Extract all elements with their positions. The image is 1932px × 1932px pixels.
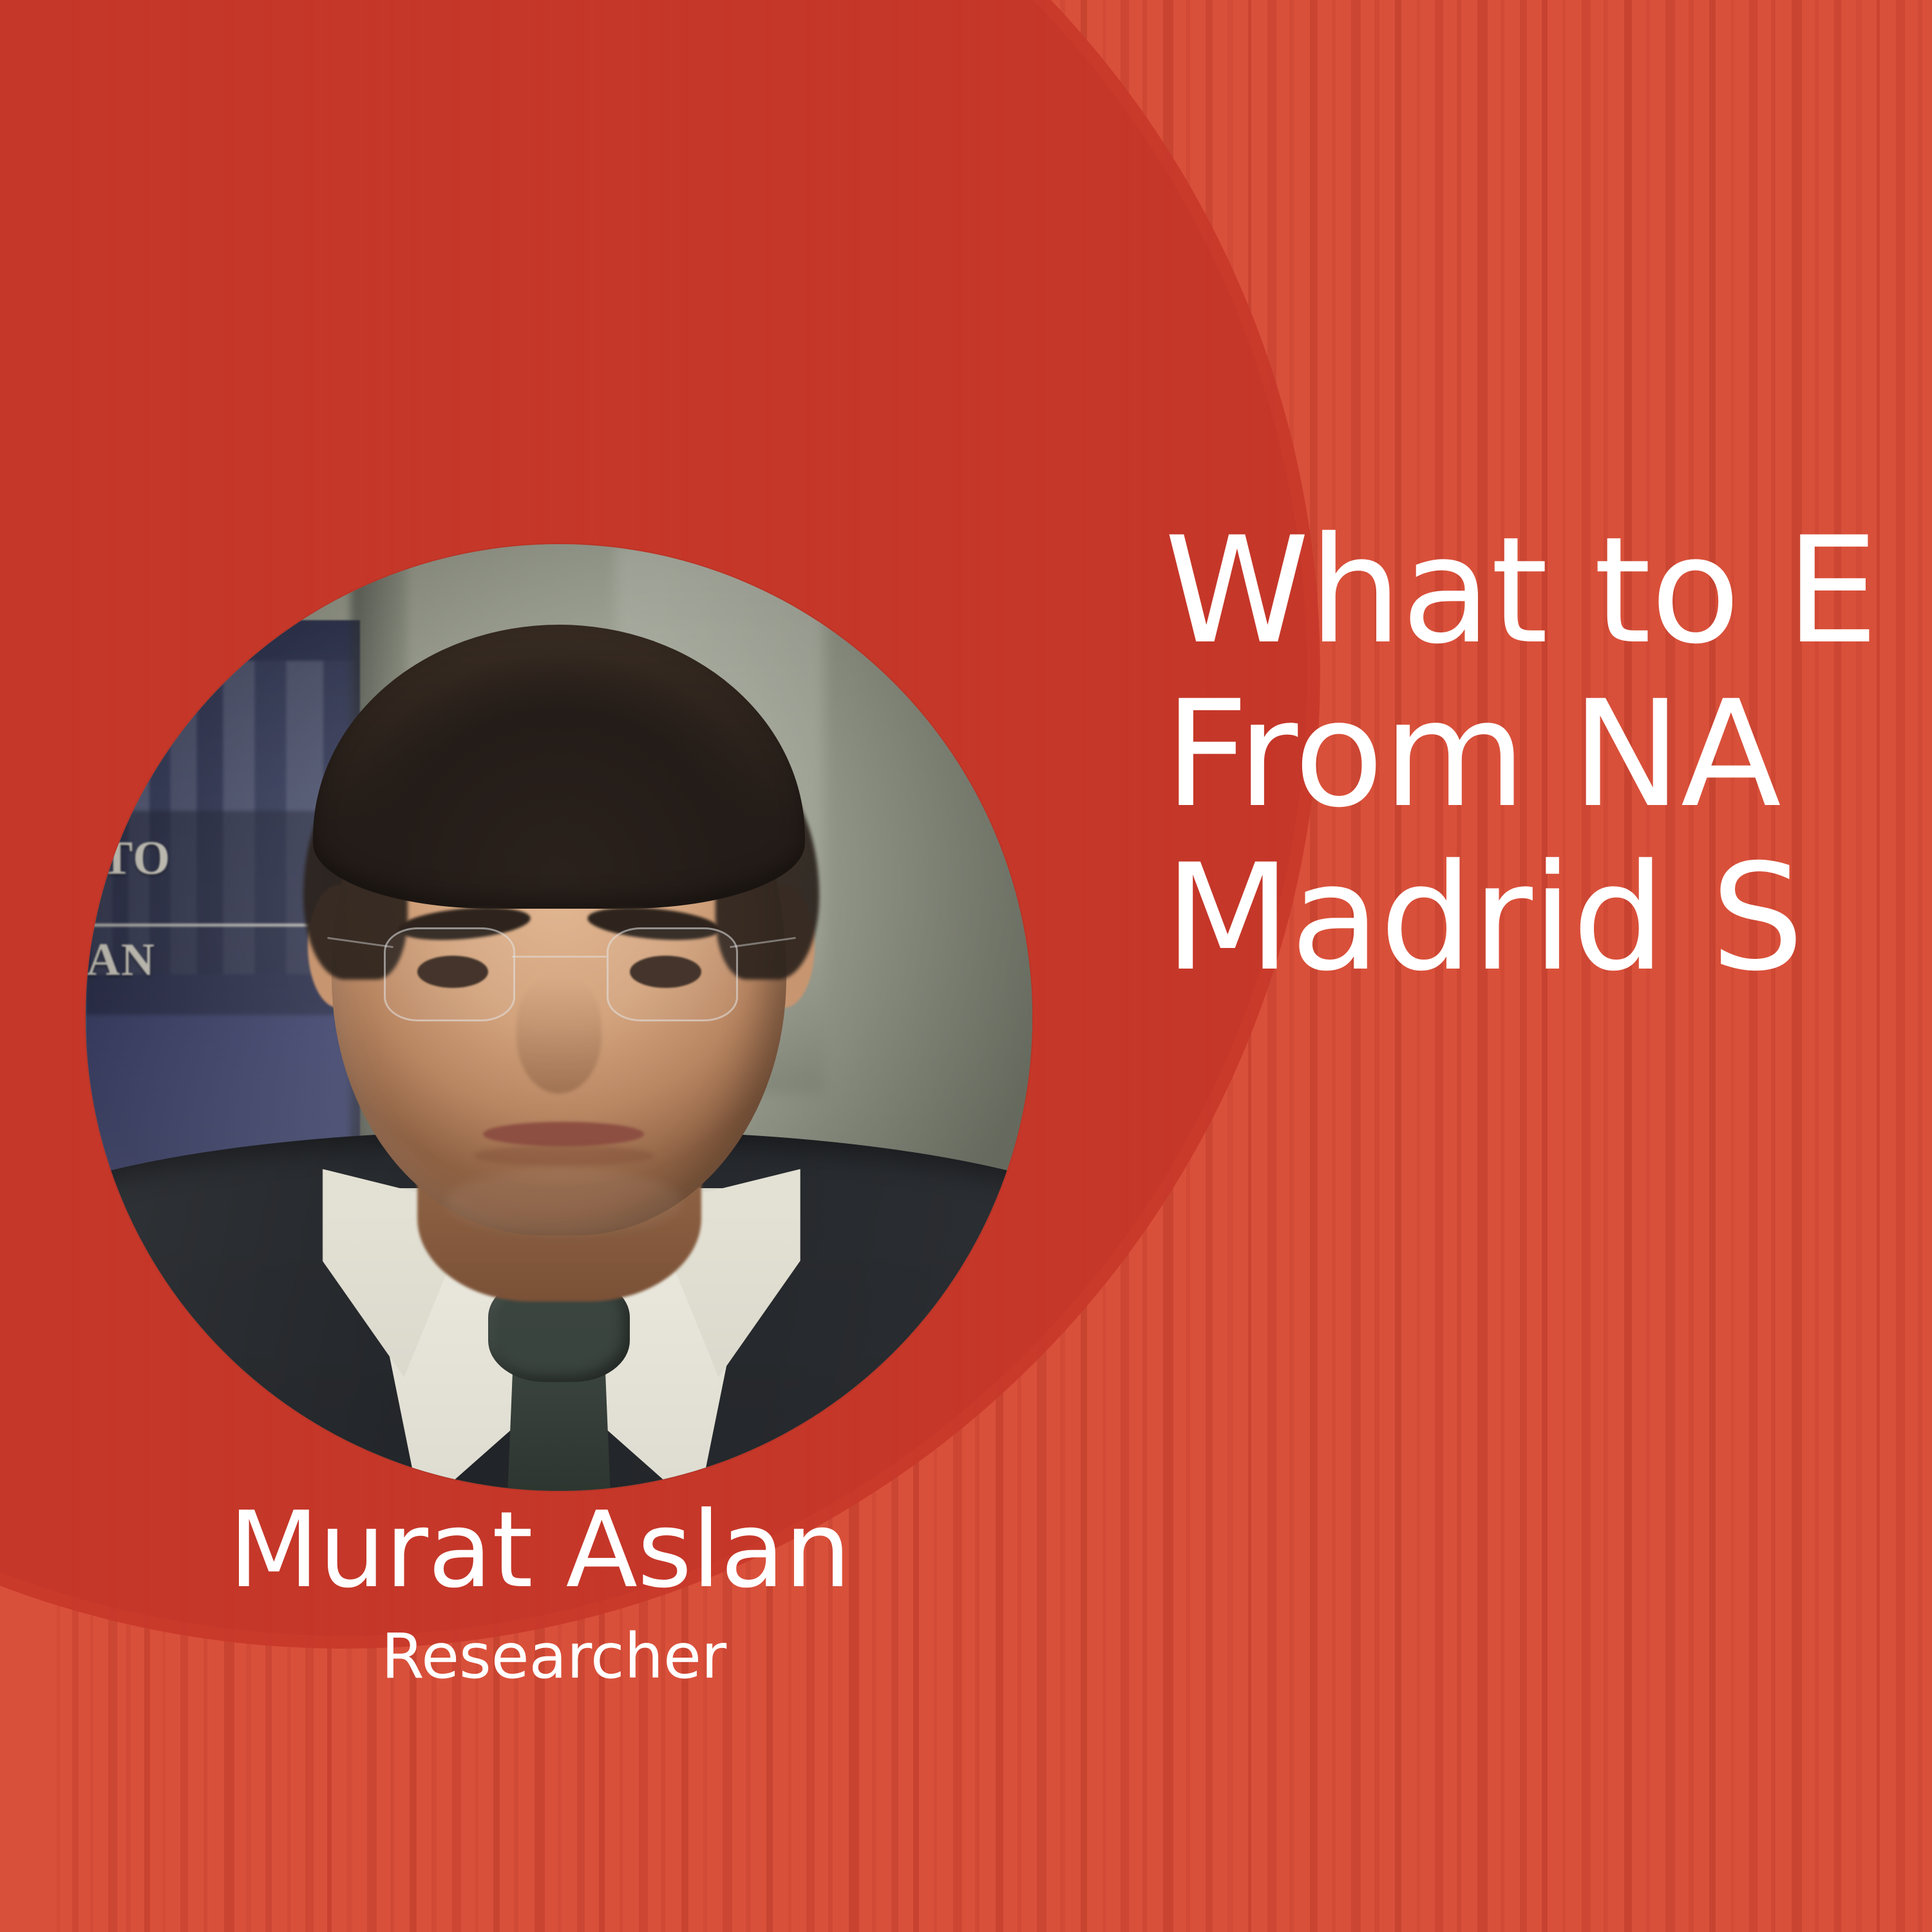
glasses-lens-left-icon bbox=[384, 927, 515, 1021]
avatar: ATO TAN bbox=[86, 544, 1032, 1491]
photo-chin-highlight bbox=[446, 1169, 683, 1235]
avatar-photo: ATO TAN bbox=[86, 544, 1032, 1491]
photo-nose bbox=[516, 980, 601, 1093]
glasses-bridge-icon bbox=[512, 956, 607, 958]
title-line-3: Madrid S bbox=[1164, 836, 1932, 999]
glasses-lens-right-icon bbox=[607, 927, 738, 1021]
speaker-name: Murat Aslan bbox=[229, 1498, 851, 1603]
episode-title: What to E From NA Madrid S bbox=[1164, 509, 1932, 1000]
title-line-2: From NA bbox=[1164, 672, 1932, 836]
episode-cover: ATO TAN bbox=[0, 0, 1932, 1932]
photo-mouth bbox=[483, 1122, 644, 1146]
title-line-1: What to E bbox=[1164, 509, 1932, 672]
photo-lip-shadow bbox=[474, 1145, 654, 1166]
speaker-role: Researcher bbox=[381, 1625, 726, 1687]
